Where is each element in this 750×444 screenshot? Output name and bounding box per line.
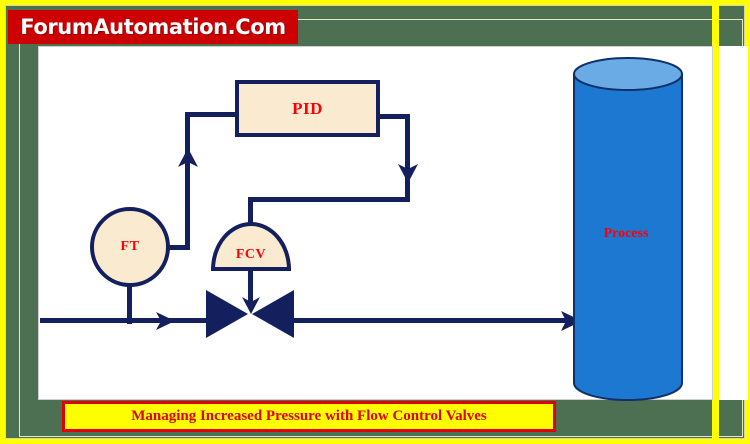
ft-signal-up-arrow [177, 148, 199, 170]
white-right-margin [719, 46, 748, 400]
process-pipe-inlet-arrow [156, 311, 176, 331]
pid-output-down-arrow [397, 162, 419, 184]
flow-transmitter-label: FT [121, 239, 140, 255]
watermark-logo-text: ForumAutomation.Com [20, 15, 286, 39]
ft-signal-vertical [185, 112, 190, 248]
pid-controller-label: PID [292, 99, 323, 119]
pid-controller-block: PID [235, 80, 380, 137]
process-pipe-inlet [40, 318, 210, 323]
pid-output-horizontal-to-fcv [248, 197, 410, 202]
process-pipe-outlet [288, 318, 578, 323]
fcv-valve-label: FCV [236, 247, 266, 263]
watermark-logo-banner: ForumAutomation.Com [8, 10, 298, 44]
flow-transmitter-symbol: FT [90, 207, 170, 287]
yellow-vertical-divider [712, 0, 719, 444]
pid-output-vertical [405, 114, 410, 202]
fcv-valve-body [204, 288, 296, 340]
caption-banner: Managing Increased Pressure with Flow Co… [62, 401, 556, 432]
ft-signal-to-pid-horizontal [185, 112, 239, 117]
process-vessel-label: Process [568, 226, 684, 242]
caption-text: Managing Increased Pressure with Flow Co… [131, 408, 487, 425]
screenshot-canvas: ForumAutomation.Com PID FT FCV [0, 0, 750, 444]
